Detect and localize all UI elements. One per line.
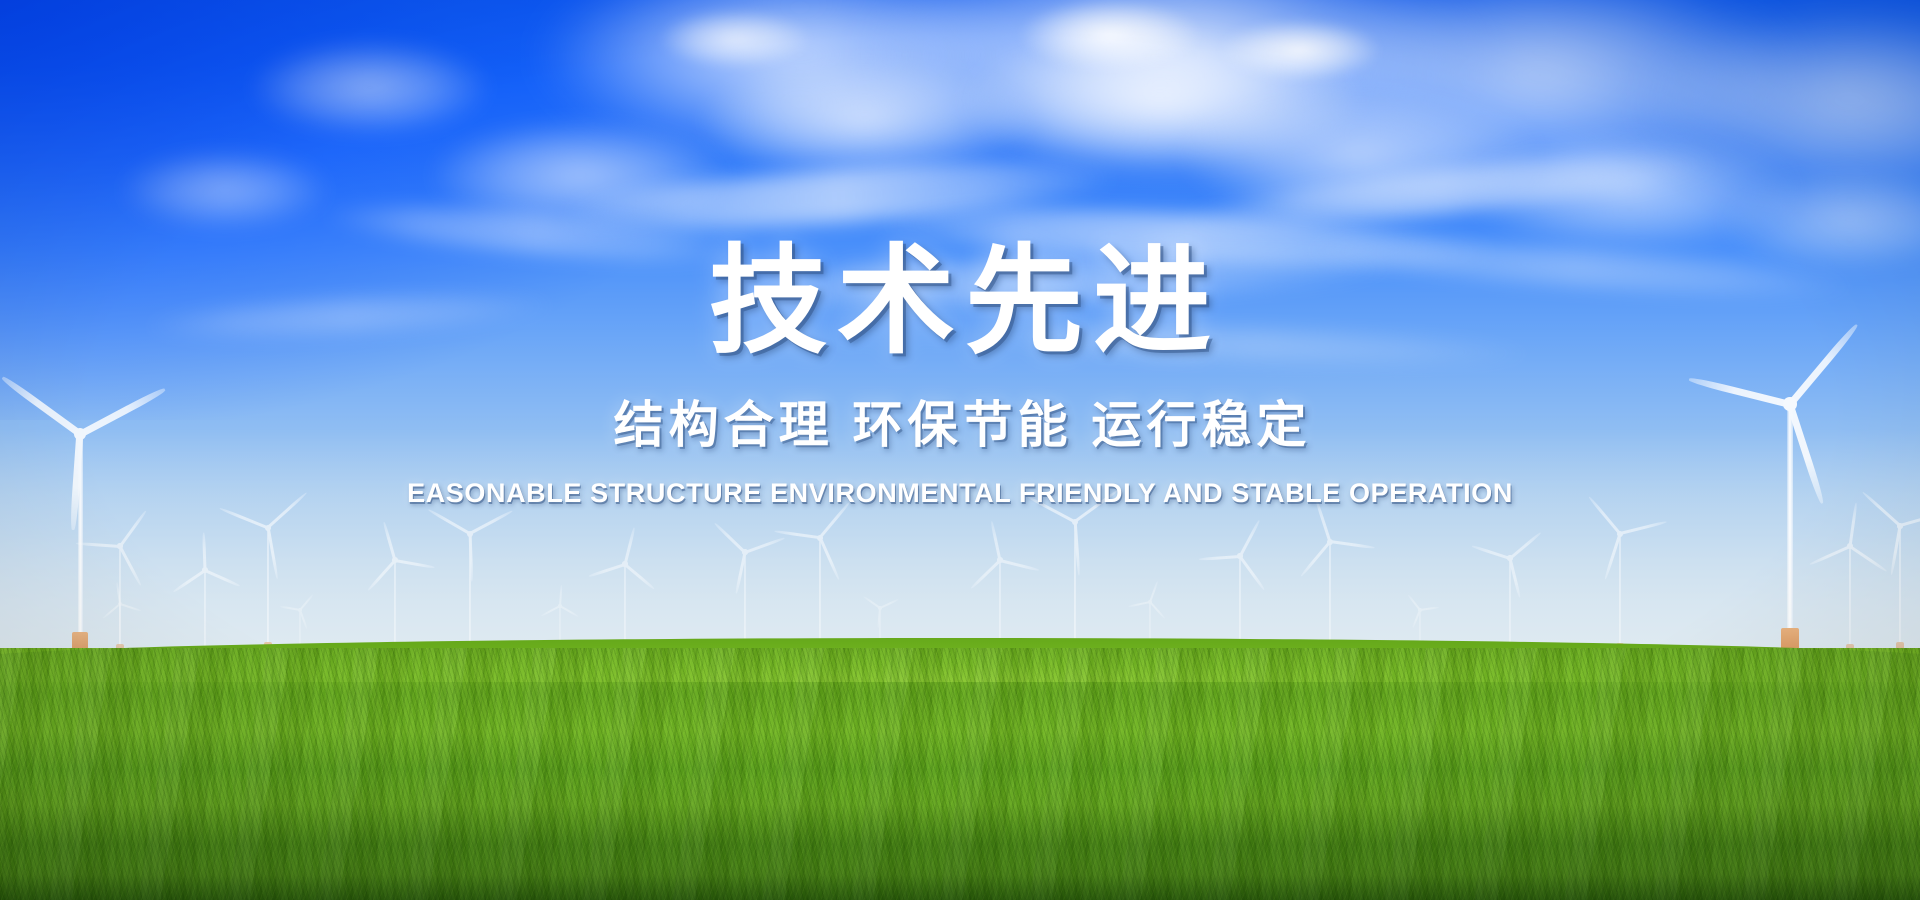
- hero-banner: 技术先进 结构合理 环保节能 运行稳定 EASONABLE STRUCTURE …: [0, 0, 1920, 900]
- banner-headline: 技术先进: [699, 243, 1221, 361]
- banner-subheadline: 结构合理 环保节能 运行稳定: [609, 385, 1312, 457]
- banner-text-block: 技术先进 结构合理 环保节能 运行稳定 EASONABLE STRUCTURE …: [0, 0, 1920, 900]
- banner-english-tagline: EASONABLE STRUCTURE ENVIRONMENTAL FRIEND…: [407, 478, 1513, 509]
